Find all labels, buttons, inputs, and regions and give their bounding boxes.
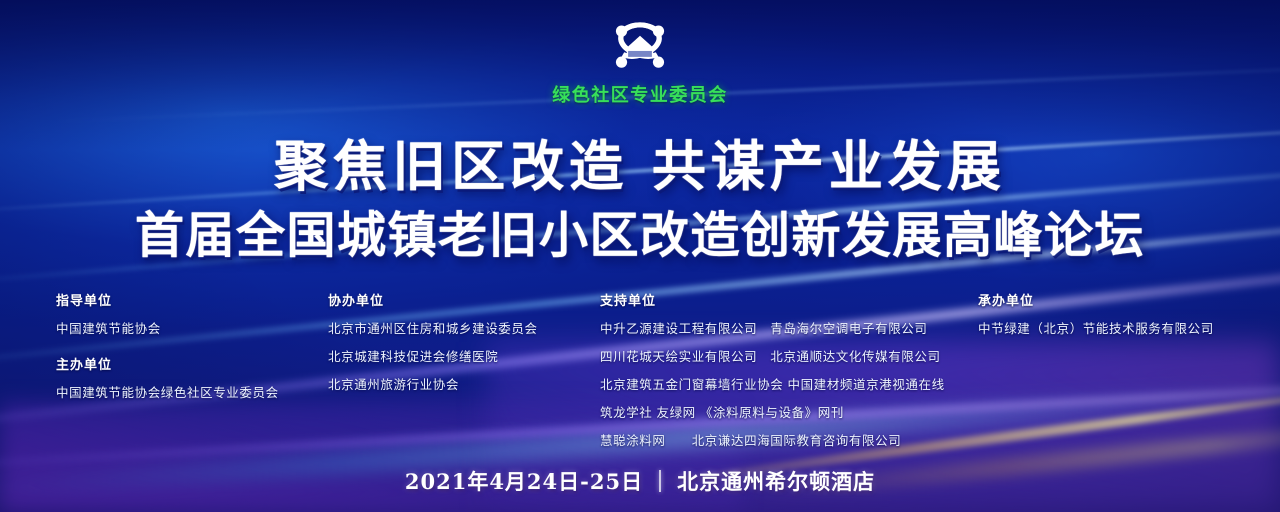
conference-banner: 绿色社区专业委员会 聚焦旧区改造 共谋产业发展 首届全国城镇老旧小区改造创新发展… bbox=[0, 0, 1280, 512]
org-entry: 中升乙源建设工程有限公司 青岛海尔空调电子有限公司 bbox=[600, 318, 1000, 337]
logo-caption: 绿色社区专业委员会 bbox=[552, 81, 728, 107]
green-community-atom-house-logo-icon bbox=[607, 12, 673, 78]
org-entry: 北京建筑五金门窗幕墙行业协会 中国建材频道京港视通在线 bbox=[600, 374, 1000, 393]
event-date: 2021年4月24日-25日 bbox=[405, 466, 643, 496]
org-column-host: 承办单位 中节绿建（北京）节能技术服务有限公司 bbox=[978, 290, 1268, 346]
footer-divider bbox=[659, 470, 661, 492]
org-entry: 慧聪涂料网 北京谦达四海国际教育咨询有限公司 bbox=[600, 430, 1000, 449]
org-entry: 四川花城天绘实业有限公司 北京通顺达文化传媒有限公司 bbox=[600, 346, 1000, 365]
event-footer: 2021年4月24日-25日 北京通州希尔顿酒店 bbox=[0, 466, 1280, 496]
organizations-section: 指导单位 中国建筑节能协会 主办单位 中国建筑节能协会绿色社区专业委员会 协办单… bbox=[0, 290, 1280, 450]
org-entry: 北京城建科技促进会修缮医院 bbox=[328, 346, 598, 365]
org-column-supporters: 支持单位 中升乙源建设工程有限公司 青岛海尔空调电子有限公司 四川花城天绘实业有… bbox=[600, 290, 1000, 458]
org-entry: 中国建筑节能协会 bbox=[56, 318, 326, 337]
org-entry: 筑龙学社 友绿网 《涂料原料与设备》网刊 bbox=[600, 402, 1000, 421]
org-entry: 北京通州旅游行业协会 bbox=[328, 374, 598, 393]
org-heading: 支持单位 bbox=[600, 290, 1000, 309]
event-venue: 北京通州希尔顿酒店 bbox=[677, 466, 875, 496]
org-column-co-organizers: 协办单位 北京市通州区住房和城乡建设委员会 北京城建科技促进会修缮医院 北京通州… bbox=[328, 290, 598, 402]
page-title: 聚焦旧区改造 共谋产业发展 bbox=[0, 122, 1280, 201]
org-heading: 主办单位 bbox=[56, 354, 326, 373]
org-entry: 中国建筑节能协会绿色社区专业委员会 bbox=[56, 382, 326, 401]
org-column-guidance: 指导单位 中国建筑节能协会 主办单位 中国建筑节能协会绿色社区专业委员会 bbox=[56, 290, 326, 410]
org-entry: 北京市通州区住房和城乡建设委员会 bbox=[328, 318, 598, 337]
org-heading: 协办单位 bbox=[328, 290, 598, 309]
org-heading: 指导单位 bbox=[56, 290, 326, 309]
banner-content: 绿色社区专业委员会 聚焦旧区改造 共谋产业发展 首届全国城镇老旧小区改造创新发展… bbox=[0, 0, 1280, 512]
org-entry: 中节绿建（北京）节能技术服务有限公司 bbox=[978, 318, 1268, 337]
page-subtitle: 首届全国城镇老旧小区改造创新发展高峰论坛 bbox=[0, 196, 1280, 267]
organization-logo-block: 绿色社区专业委员会 bbox=[0, 12, 1280, 107]
org-heading: 承办单位 bbox=[978, 290, 1268, 309]
